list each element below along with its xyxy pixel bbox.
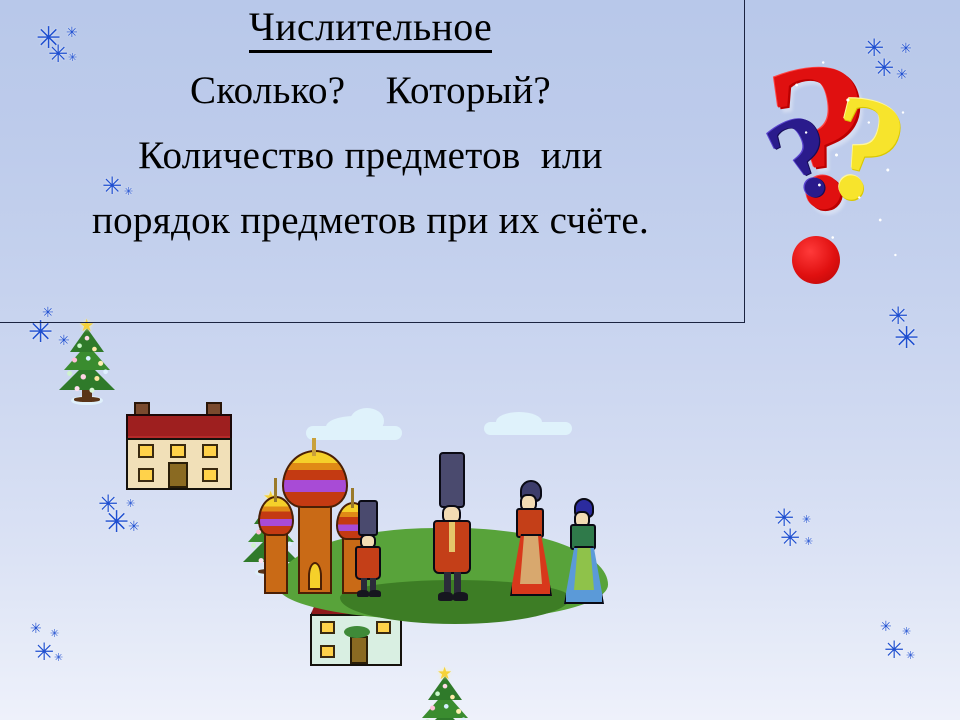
slide-canvas: ✳ ✳ ✳ ✳ ✳ ✳ ✳ ✳ ✳ ✳ ✳ ✳ ✳ ✳ ✳ ✳ ✳ ✳ ✳ ✳ … <box>0 0 960 720</box>
title-textbox[interactable]: Числительное Сколько? Который? Количеств… <box>0 0 745 323</box>
snowflake-icon: ✳ <box>802 514 811 525</box>
coat <box>355 546 381 580</box>
russian-village-scene <box>250 408 632 630</box>
boot <box>438 592 453 601</box>
house <box>124 402 234 490</box>
boot <box>357 590 369 597</box>
snowflake-icon: ✳ <box>128 520 140 534</box>
cathedral-side-tower <box>264 532 288 594</box>
snowflake-icon: ✳ <box>880 620 892 634</box>
question-words-line: Сколько? Который? <box>0 71 744 110</box>
cathedral-spire <box>312 438 316 456</box>
figure-boy <box>350 500 386 600</box>
snowflake-icon: ✳ <box>34 640 54 664</box>
snowflake-cluster: ✳ ✳ ✳ ✳ <box>872 616 942 676</box>
snowflake-cluster: ✳ ✳ ✳ ✳ <box>20 618 90 678</box>
coat-trim <box>449 522 455 552</box>
figure-woman-blue <box>562 498 606 610</box>
window <box>202 444 218 458</box>
snowflake-cluster: ✳ ✳ ✳ ✳ <box>760 500 830 560</box>
christmas-tree: ★ <box>56 318 118 402</box>
snowflake-icon: ✳ <box>30 622 42 636</box>
boot <box>369 590 381 597</box>
snowflake-icon: ✳ <box>54 652 63 663</box>
door <box>350 636 368 664</box>
cloud <box>484 422 572 435</box>
cathedral-door <box>308 562 322 590</box>
page-title-text: Числительное <box>249 4 492 53</box>
window <box>138 444 154 458</box>
snowflake-icon: ✳ <box>884 638 904 662</box>
snowflake-icon: ✳ <box>804 536 813 547</box>
definition-line-1: Количество предметов или <box>0 136 744 175</box>
snowflake-icon: ✳ <box>104 508 129 538</box>
village-strip: ★ ★ <box>28 318 932 418</box>
figure-man <box>428 452 476 602</box>
cathedral-main-dome <box>282 450 348 508</box>
christmas-tree: ★ <box>414 666 476 720</box>
tall-hat <box>358 500 378 536</box>
snowflake-icon: ✳ <box>780 526 800 550</box>
definition-line-2: порядок предметов при их счёте. <box>0 201 744 240</box>
window <box>170 444 186 458</box>
bodice <box>516 508 544 538</box>
snowflake-icon: ✳ <box>906 650 915 661</box>
tall-hat <box>439 452 465 508</box>
door <box>168 462 188 488</box>
question-mark-dot <box>792 236 840 284</box>
window <box>202 468 218 482</box>
page-title: Числительное <box>0 7 744 47</box>
cathedral-spire <box>274 478 277 502</box>
boot <box>453 592 468 601</box>
leg <box>454 572 461 594</box>
snowflake-cluster: ✳ ✳ ✳ ✳ <box>88 488 158 548</box>
window <box>138 468 154 482</box>
star-icon: ★ <box>437 665 452 682</box>
question-marks-clipart: ? ? ? <box>770 40 960 290</box>
window <box>320 645 335 658</box>
figure-woman-red <box>508 480 554 606</box>
leg <box>444 572 451 594</box>
